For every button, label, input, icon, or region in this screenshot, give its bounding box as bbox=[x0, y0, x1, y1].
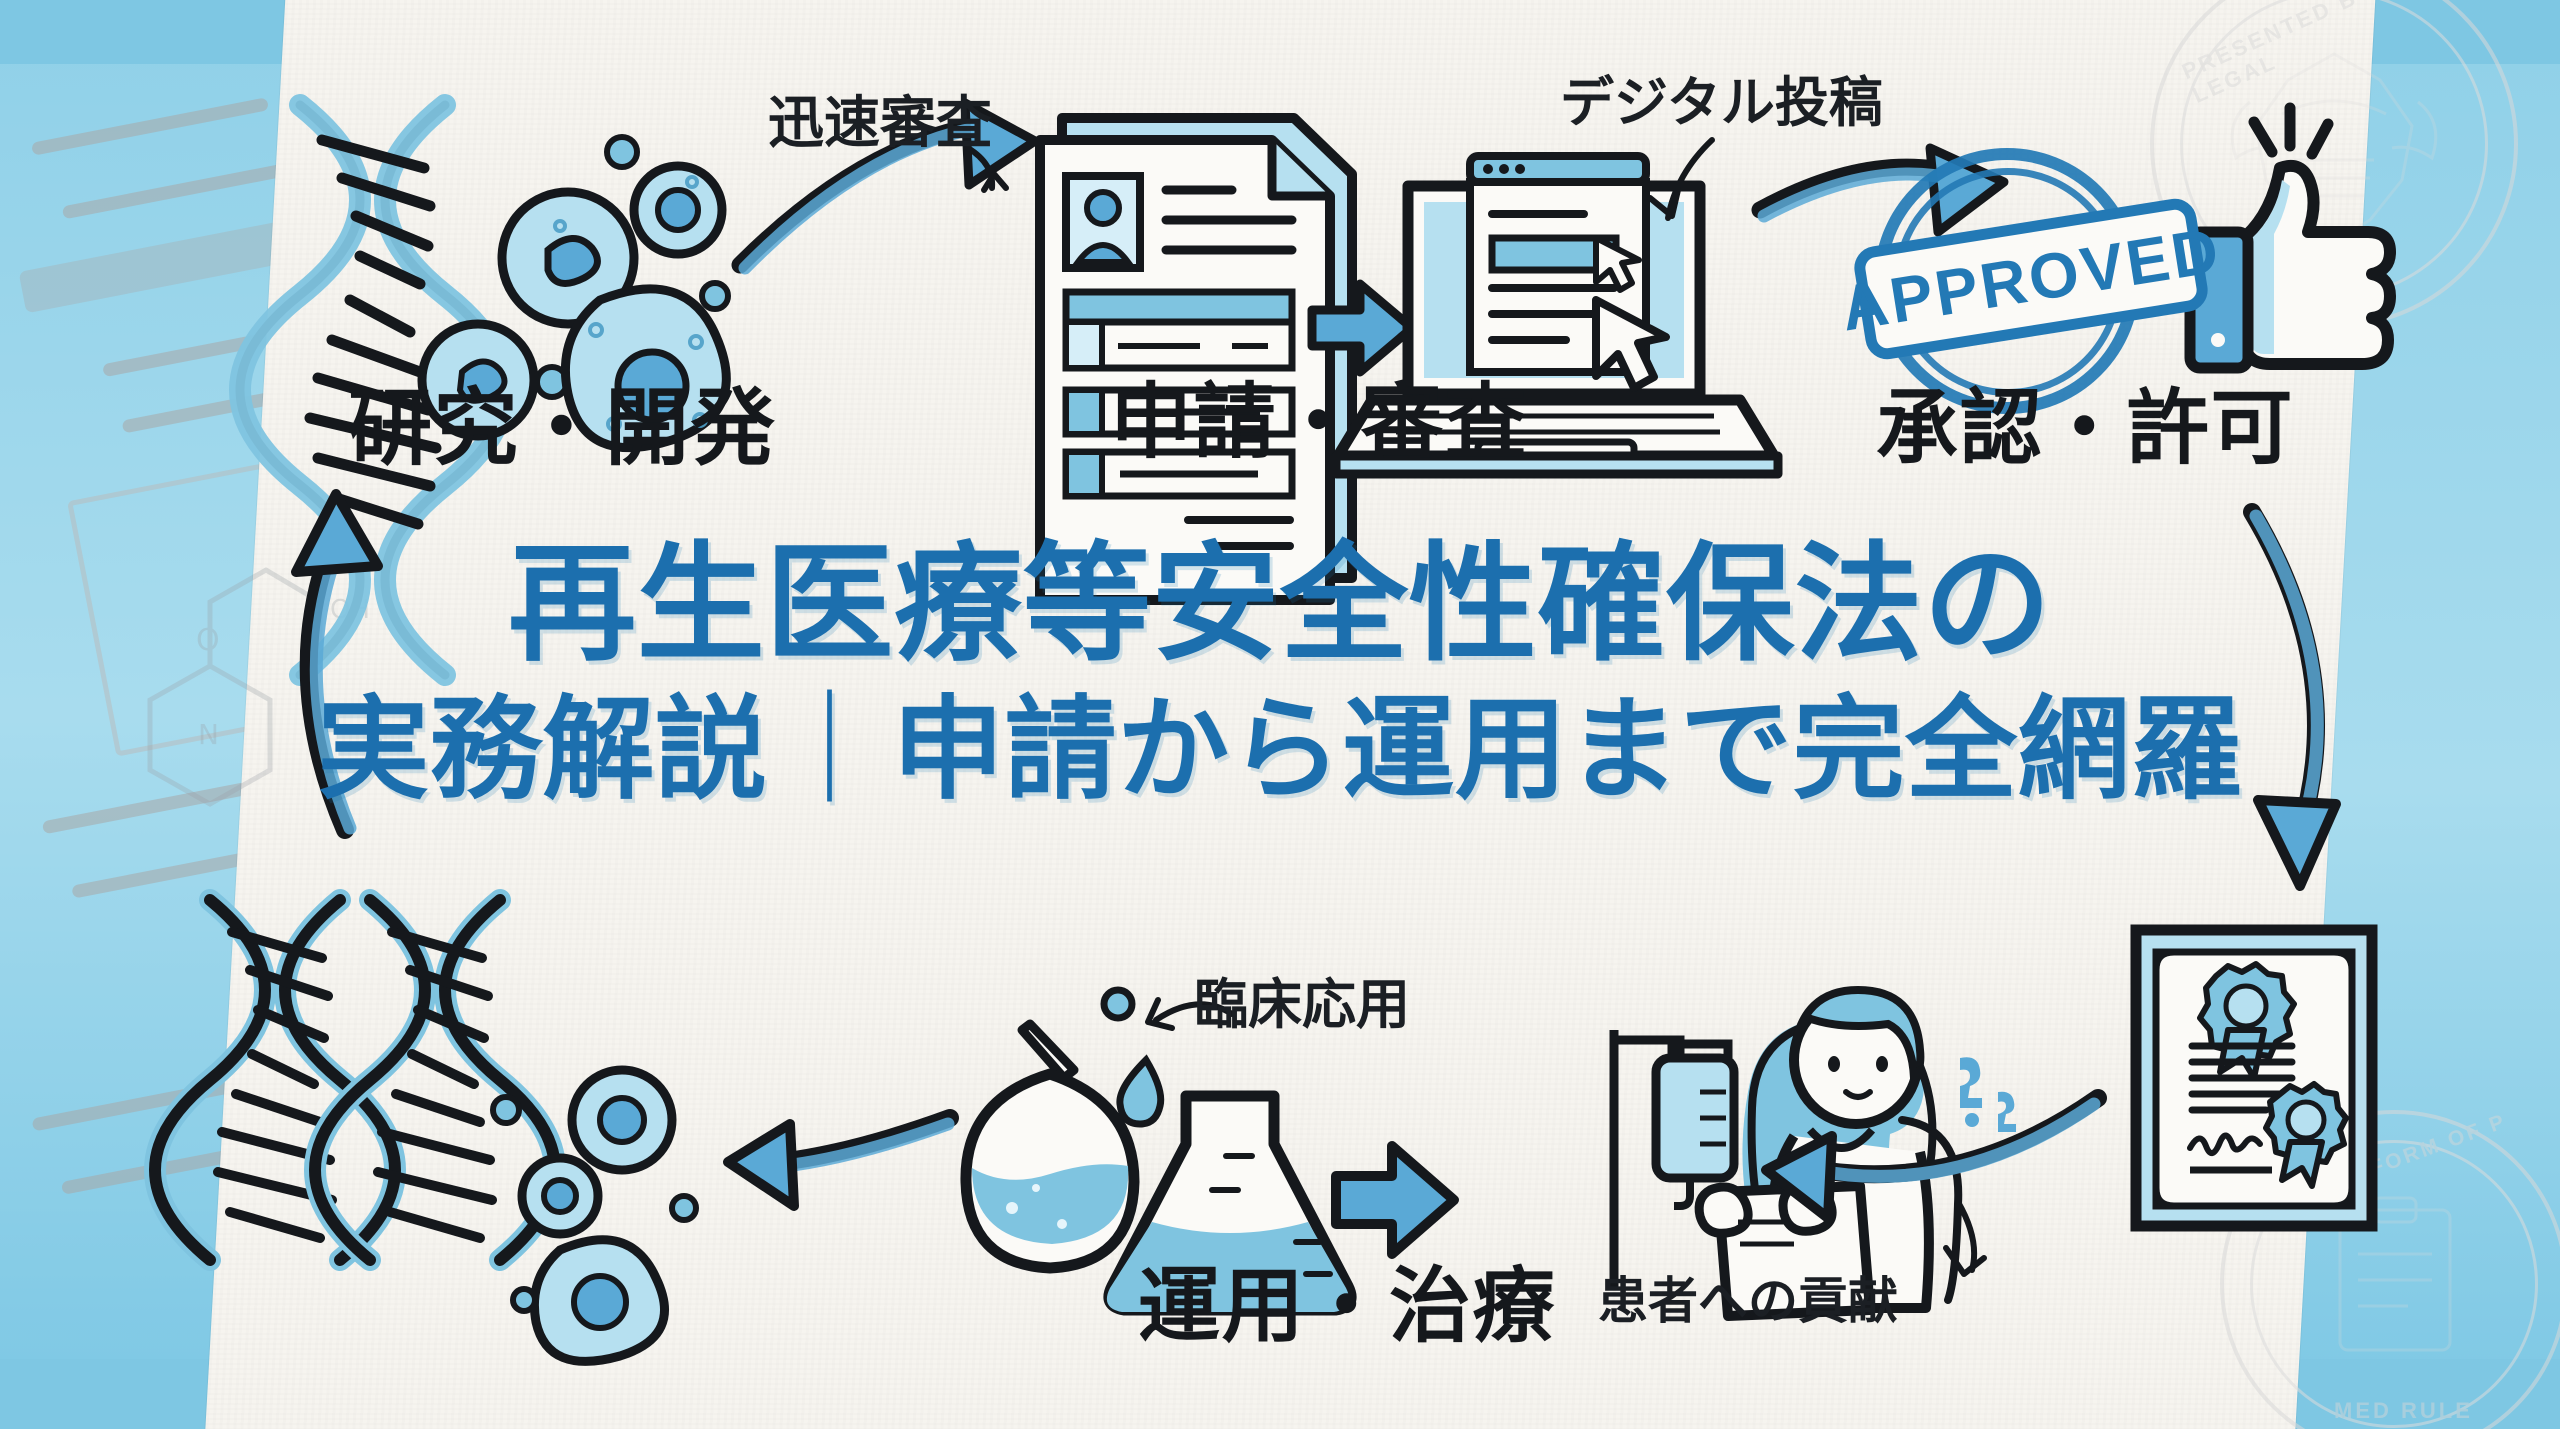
annotation-clinical-application: 臨床応用 bbox=[1194, 978, 1410, 1032]
cell-cluster-icon-bottom bbox=[493, 1070, 696, 1361]
arrow-left-operation-to-cells bbox=[728, 1118, 950, 1206]
annotation-hook-digital-submission bbox=[1650, 140, 1712, 218]
title-line-2-right: 申請から運用まで完全網羅 bbox=[892, 685, 2243, 815]
step-label-research: 研究・開発 bbox=[348, 386, 776, 470]
approved-stamp-icon: APPROVED bbox=[1852, 148, 2182, 384]
arrow-right-flask-to-nurse bbox=[1336, 1146, 1454, 1254]
annotation-digital-submission: デジタル投稿 bbox=[1560, 76, 1883, 130]
liquid-drop-icon bbox=[1120, 1060, 1161, 1124]
annotation-fast-review: 迅速審査 bbox=[768, 96, 992, 152]
title-separator: ｜ bbox=[767, 685, 892, 815]
title-line-2-left: 実務解説 bbox=[317, 685, 767, 815]
annotation-hook-patient-contribution bbox=[1946, 1202, 1984, 1274]
title-line-2: 実務解説｜申請から運用まで完全網羅 bbox=[317, 693, 2243, 807]
dna-helix-icon-bottom bbox=[155, 900, 555, 1260]
annotation-hook-arrowhead-1 bbox=[984, 174, 1006, 190]
title-line-1: 再生医療等安全性確保法の bbox=[508, 540, 2052, 671]
main-title: 再生医療等安全性確保法の 実務解説｜申請から運用まで完全網羅 bbox=[0, 540, 2560, 807]
step-label-approval: 承認・許可 bbox=[1876, 388, 2294, 470]
round-bottom-flask-icon bbox=[966, 1024, 1134, 1268]
step-label-operation: 運用・治療 bbox=[1138, 1266, 1556, 1348]
arrow-left-certificate-to-operation bbox=[1766, 1098, 2098, 1218]
step-label-application: 申請・審査 bbox=[1110, 382, 1528, 464]
arrow-right-doc-to-laptop bbox=[1312, 284, 1412, 372]
application-document-icon bbox=[1040, 118, 1352, 600]
infographic-content: PRESENTED BY THE LEGAL RINY TRIAL REFORM… bbox=[0, 0, 2560, 1429]
certificate-seal-top bbox=[2200, 964, 2294, 1078]
watermark-seal-bottom: TRIAL REFORM OF P MED RULE bbox=[2220, 1110, 2560, 1429]
clipboard-emblem-icon bbox=[2224, 1114, 2560, 1429]
annotation-patient-contribution: 患者への貢献 bbox=[1598, 1276, 1898, 1326]
nurse-with-iv-icon bbox=[1614, 990, 2016, 1316]
infographic-banner: PRESENTED BY THE LEGAL RINY TRIAL REFORM… bbox=[0, 0, 2560, 1429]
